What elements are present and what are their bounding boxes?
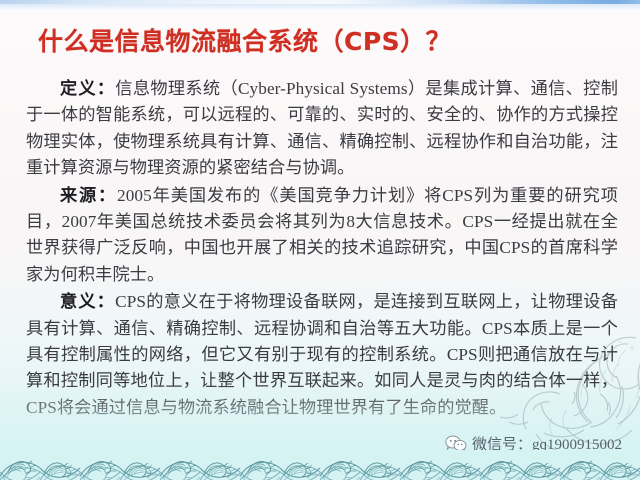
paragraph-lead-significance: 意义： xyxy=(60,292,115,311)
page-title: 什么是信息物流融合系统（CPS）？ xyxy=(38,22,451,58)
wave-pattern-band xyxy=(0,450,640,480)
paragraph-body-significance: CPS的意义在于将物理设备联网，是连接到互联网上，让物理设备具有计算、通信、精确… xyxy=(26,292,618,417)
top-gradient-sheen xyxy=(0,0,640,4)
top-gradient-bar xyxy=(0,0,640,11)
paragraph-lead-origin: 来源： xyxy=(60,186,117,205)
paragraph-definition: 定义：信息物理系统（Cyber-Physical Systems）是集成计算、通… xyxy=(26,76,618,182)
body-text-block: 定义：信息物理系统（Cyber-Physical Systems）是集成计算、通… xyxy=(26,76,618,422)
slide-canvas: 什么是信息物流融合系统（CPS）？ 定义：信息物理系统（Cyber-Physic… xyxy=(0,0,640,480)
paragraph-body-definition: 信息物理系统（Cyber-Physical Systems）是集成计算、通信、控… xyxy=(26,79,618,177)
paragraph-origin: 来源：2005年美国发布的《美国竞争力计划》将CPS列为重要的研究项目，2007… xyxy=(26,183,618,289)
paragraph-lead-definition: 定义： xyxy=(60,79,115,98)
paragraph-significance: 意义：CPS的意义在于将物理设备联网，是连接到互联网上，让物理设备具有计算、通信… xyxy=(26,289,618,421)
